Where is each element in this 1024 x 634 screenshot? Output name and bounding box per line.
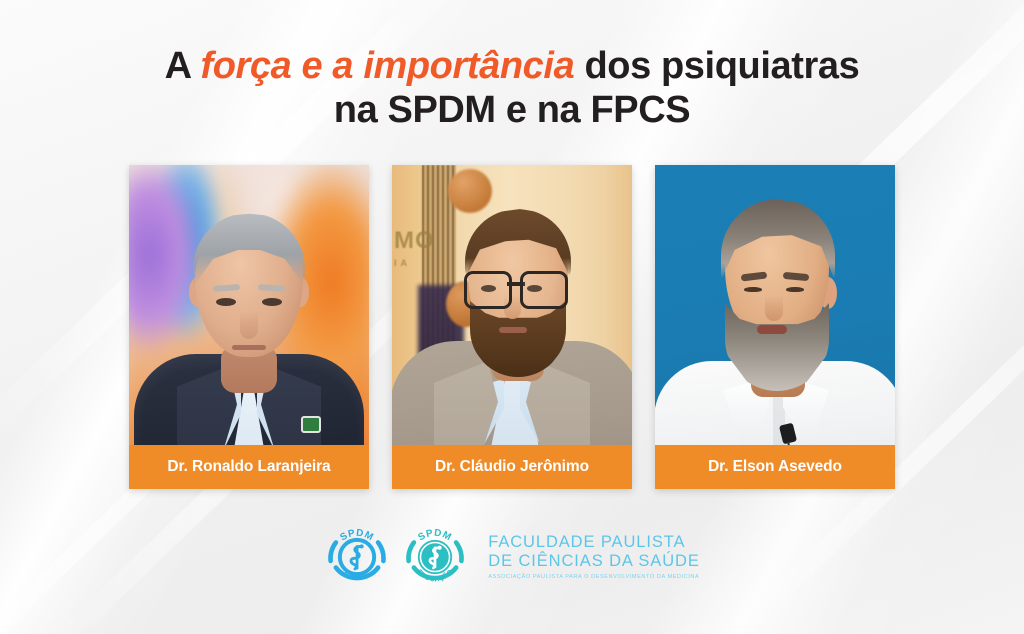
- footer-logo-bar: SPDM SAÚDE SPDM: [0, 524, 1024, 590]
- speaker-panel-group: Dr. Ronaldo Laranjeira MOIA: [129, 165, 895, 489]
- mouth-shape: [232, 345, 266, 350]
- speaker-name-bar: Dr. Elson Asevedo: [655, 445, 895, 489]
- title-line-1-prefix: A: [165, 45, 201, 87]
- spdm-educacao-logo-icon: SPDM EDUCAÇÃO: [402, 524, 468, 590]
- speaker-card-elson-asevedo: Dr. Elson Asevedo: [655, 165, 895, 489]
- eyeglass-lens-left: [464, 271, 512, 309]
- title-line-1: A força e a importância dos psiquiatras: [0, 44, 1024, 88]
- nose-shape: [765, 295, 783, 321]
- speaker-card-claudio-jeronimo: MOIA: [392, 165, 632, 489]
- speaker-photo-elson-asevedo: [655, 165, 895, 489]
- speaker-name-bar: Dr. Ronaldo Laranjeira: [129, 445, 369, 489]
- spdm-saude-bottom-text: SAÚDE: [342, 569, 373, 582]
- poster-title: A força e a importância dos psiquiatras …: [0, 44, 1024, 133]
- eye-left: [744, 287, 762, 292]
- speaker-name: Dr. Elson Asevedo: [708, 458, 842, 476]
- speaker-name: Dr. Cláudio Jerônimo: [435, 458, 589, 476]
- faculdade-line-2: DE CIÊNCIAS DA SAÚDE: [488, 552, 699, 570]
- spdm-saude-logo-icon: SPDM SAÚDE: [324, 524, 390, 590]
- eye-right: [786, 287, 804, 292]
- background-sphere-upper: [448, 169, 492, 213]
- poster-canvas: A força e a importância dos psiquiatras …: [0, 0, 1024, 634]
- title-accent-phrase: força e a importância: [200, 45, 574, 87]
- background-signage: MOIA: [394, 227, 435, 268]
- nose-shape: [240, 311, 258, 339]
- faculdade-line-1: FACULDADE PAULISTA: [488, 533, 699, 551]
- speaker-card-ronaldo-laranjeira: Dr. Ronaldo Laranjeira: [129, 165, 369, 489]
- mouth-shape: [499, 327, 527, 333]
- speaker-photo-claudio-jeronimo: MOIA: [392, 165, 632, 489]
- mouth-shape: [757, 325, 787, 334]
- faculdade-wordmark: FACULDADE PAULISTA DE CIÊNCIAS DA SAÚDE …: [488, 533, 699, 580]
- faculdade-tagline: ASSOCIAÇÃO PAULISTA PARA O DESENVOLVIMEN…: [488, 574, 699, 580]
- speaker-name-bar: Dr. Cláudio Jerônimo: [392, 445, 632, 489]
- speaker-name: Dr. Ronaldo Laranjeira: [167, 458, 330, 476]
- svg-text:SAÚDE: SAÚDE: [342, 569, 373, 582]
- eye-right: [262, 298, 282, 306]
- eyeglasses: [464, 271, 568, 305]
- title-line-1-suffix: dos psiquiatras: [574, 45, 859, 87]
- eyeglass-lens-right: [520, 271, 568, 309]
- title-line-2: na SPDM e na FPCS: [0, 88, 1024, 132]
- lapel-pin: [301, 416, 321, 433]
- speaker-photo-ronaldo-laranjeira: [129, 165, 369, 489]
- eye-left: [216, 298, 236, 306]
